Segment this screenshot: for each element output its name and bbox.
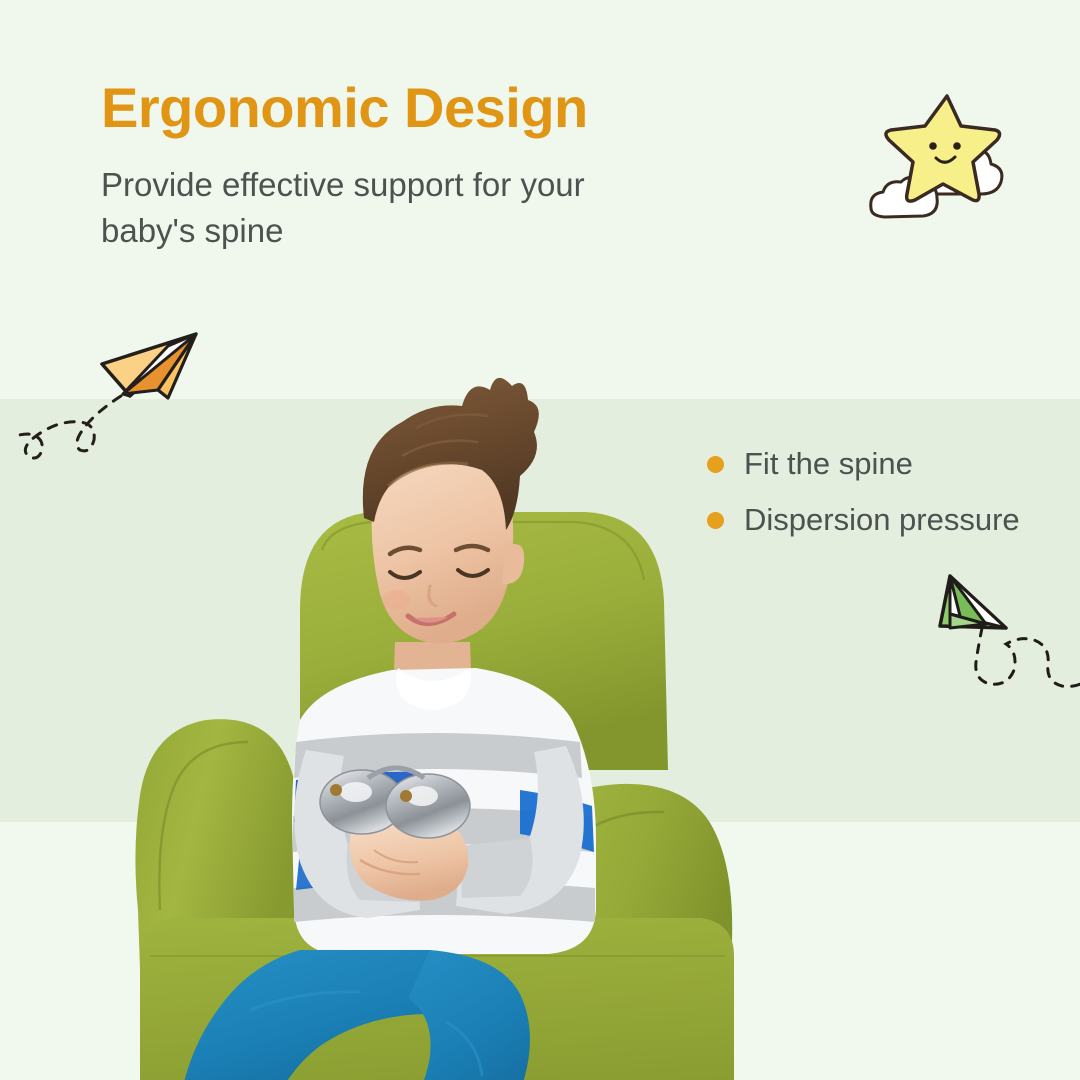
bullet-dot-icon — [707, 456, 724, 473]
promo-banner: Ergonomic Design Provide effective suppo… — [0, 0, 1080, 1080]
feature-label: Fit the spine — [744, 447, 913, 481]
headline-block: Ergonomic Design Provide effective suppo… — [101, 78, 721, 254]
feature-item-dispersion-pressure: Dispersion pressure — [707, 503, 1020, 537]
feature-item-fit-the-spine: Fit the spine — [707, 447, 1020, 481]
paper-plane-yellow-doodle — [18, 320, 218, 470]
paper-plane-green-doodle — [920, 562, 1080, 707]
bullet-dot-icon — [707, 512, 724, 529]
feature-list: Fit the spine Dispersion pressure — [707, 447, 1020, 559]
star-eye-left — [929, 142, 937, 150]
plane-trail — [976, 628, 1080, 686]
plane-trail — [18, 396, 121, 458]
page-title: Ergonomic Design — [101, 78, 721, 138]
feature-label: Dispersion pressure — [744, 503, 1020, 537]
star-eye-right — [953, 142, 961, 150]
star-cloud-doodle — [855, 78, 1030, 228]
page-subtitle: Provide effective support for your baby'… — [101, 162, 621, 253]
